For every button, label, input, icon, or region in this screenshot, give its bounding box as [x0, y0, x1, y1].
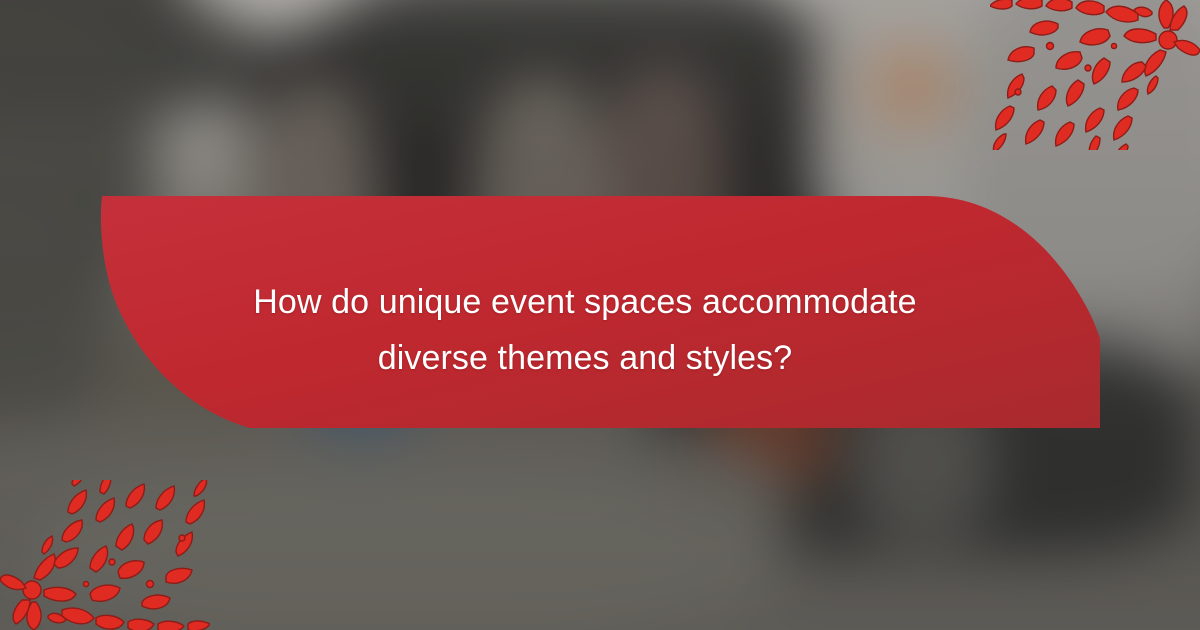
headline-banner: How do unique event spaces accommodate d… — [90, 188, 1100, 436]
floral-corner-top-right-icon — [990, 0, 1200, 150]
floral-corner-bottom-left-icon — [0, 480, 210, 630]
headline-line-1: How do unique event spaces accommodate — [190, 274, 980, 330]
headline-text: How do unique event spaces accommodate d… — [90, 274, 1100, 386]
headline-line-2: diverse themes and styles? — [190, 330, 980, 386]
question-card: How do unique event spaces accommodate d… — [0, 0, 1200, 630]
